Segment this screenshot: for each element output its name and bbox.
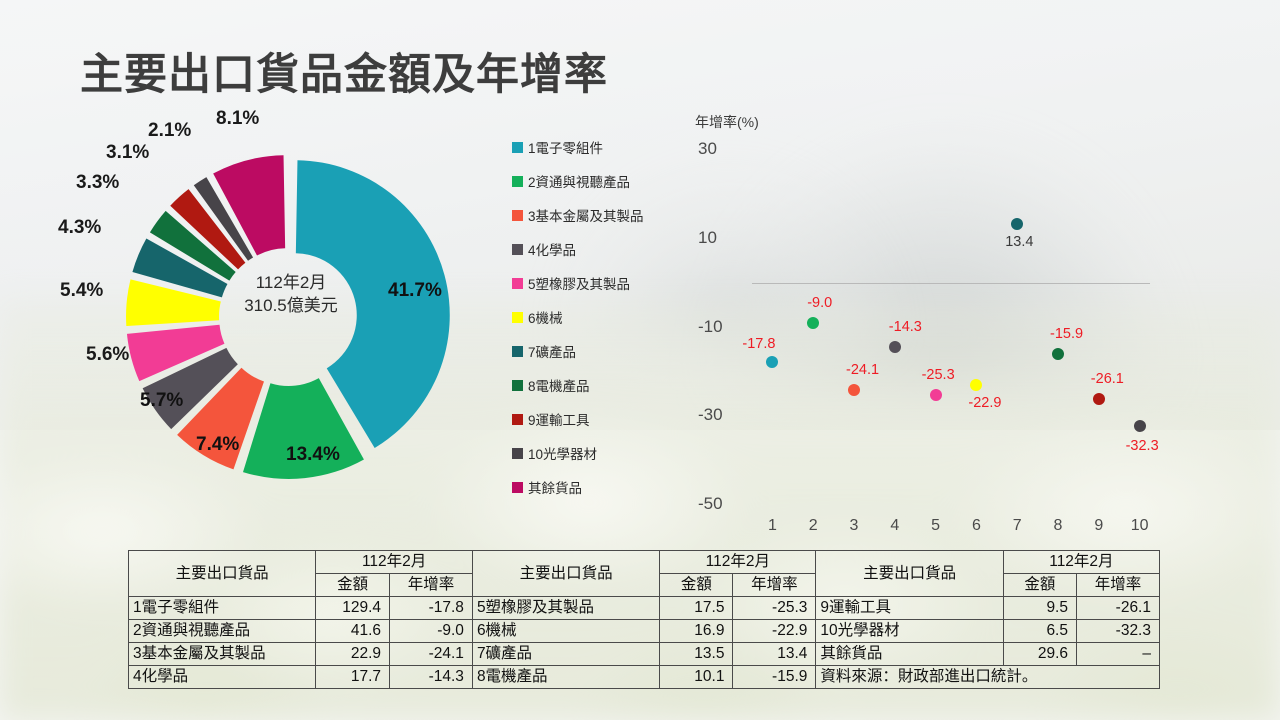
scatter-x-tick: 6 <box>961 517 991 535</box>
table-cell: 17.5 <box>660 597 733 620</box>
donut-chart: 112年2月 310.5億美元 41.7%13.4%7.4%5.7%5.6%5.… <box>78 112 498 512</box>
scatter-point <box>889 341 901 353</box>
donut-slice-label: 2.1% <box>148 120 191 142</box>
scatter-x-tick: 7 <box>1002 517 1032 535</box>
legend-swatch-icon <box>512 142 523 153</box>
scatter-y-tick: 10 <box>698 228 717 248</box>
table-cell: 129.4 <box>316 597 390 620</box>
table-cell: 9運輸工具 <box>816 597 1003 620</box>
scatter-point <box>1011 218 1023 230</box>
table-cell: 2資通與視聽產品 <box>129 620 316 643</box>
scatter-x-tick: 1 <box>757 517 787 535</box>
scatter-point-label: -15.9 <box>1050 326 1083 342</box>
legend-swatch-icon <box>512 346 523 357</box>
legend-item-label: 2資通與視聽產品 <box>528 171 630 191</box>
legend-item-label: 7礦產品 <box>528 341 576 361</box>
table-head: 主要出口貨品 112年2月 主要出口貨品 112年2月 主要出口貨品 112年2… <box>129 551 1160 597</box>
header-rate-c: 年增率 <box>1077 574 1160 597</box>
slide-stage: 主要出口貨品金額及年增率 112年2月 310.5億美元 41.7%13.4%7… <box>0 0 1280 720</box>
table-header-row-1: 主要出口貨品 112年2月 主要出口貨品 112年2月 主要出口貨品 112年2… <box>129 551 1160 574</box>
legend-swatch-icon <box>512 176 523 187</box>
scatter-point-label: -9.0 <box>807 295 832 311</box>
table-cell: 8電機產品 <box>472 666 659 689</box>
header-rate-a: 年增率 <box>390 574 473 597</box>
scatter-zero-line <box>752 283 1150 284</box>
table-row: 1電子零組件129.4-17.85塑橡膠及其製品17.5-25.39運輸工具9.… <box>129 597 1160 620</box>
legend-item-label: 4化學品 <box>528 239 576 259</box>
legend-item[interactable]: 7礦產品 <box>512 334 702 368</box>
scatter-y-tick: -50 <box>698 494 723 514</box>
table-cell: -15.9 <box>733 666 816 689</box>
table-cell: 16.9 <box>660 620 733 643</box>
scatter-point <box>766 356 778 368</box>
scatter-point-label: -32.3 <box>1126 438 1159 454</box>
donut-slice-label: 5.7% <box>140 390 183 412</box>
scatter-point-label: -25.3 <box>922 367 955 383</box>
page-title: 主要出口貨品金額及年增率 <box>80 40 608 102</box>
donut-center-period: 112年2月 <box>206 272 376 295</box>
legend-item[interactable]: 10光學器材 <box>512 436 702 470</box>
donut-slice-label: 5.4% <box>60 280 103 302</box>
scatter-x-tick: 4 <box>880 517 910 535</box>
table-cell: 6機械 <box>472 620 659 643</box>
legend-swatch-icon <box>512 278 523 289</box>
header-product-c: 主要出口貨品 <box>816 551 1003 597</box>
table-cell: -26.1 <box>1077 597 1160 620</box>
legend-swatch-icon <box>512 380 523 391</box>
header-period-b: 112年2月 <box>660 551 816 574</box>
legend-item-label: 1電子零組件 <box>528 137 603 157</box>
legend-item[interactable]: 1電子零組件 <box>512 130 702 164</box>
header-product-b: 主要出口貨品 <box>472 551 659 597</box>
table-cell: 5塑橡膠及其製品 <box>472 597 659 620</box>
scatter-point <box>1093 393 1105 405</box>
table-cell: 17.7 <box>316 666 390 689</box>
scatter-point <box>848 384 860 396</box>
table-row: 2資通與視聽產品41.6-9.06機械16.9-22.910光學器材6.5-32… <box>129 620 1160 643</box>
header-rate-b: 年增率 <box>733 574 816 597</box>
scatter-x-tick: 9 <box>1084 517 1114 535</box>
table-source-note: 資料來源：財政部進出口統計。 <box>816 666 1160 689</box>
donut-slice-label: 13.4% <box>286 444 340 466</box>
donut-slice-label: 5.6% <box>86 344 129 366</box>
legend-item[interactable]: 6機械 <box>512 300 702 334</box>
donut-slice-label: 4.3% <box>58 217 101 239</box>
scatter-point-label: -22.9 <box>968 395 1001 411</box>
legend-swatch-icon <box>512 414 523 425</box>
legend-item-label: 5塑橡膠及其製品 <box>528 273 630 293</box>
scatter-y-tick: -30 <box>698 405 723 425</box>
legend-swatch-icon <box>512 210 523 221</box>
legend-item[interactable]: 9運輸工具 <box>512 402 702 436</box>
table-cell: 1電子零組件 <box>129 597 316 620</box>
table-cell: 22.9 <box>316 643 390 666</box>
scatter-point-label: -14.3 <box>889 319 922 335</box>
legend-item[interactable]: 8電機產品 <box>512 368 702 402</box>
table-cell: -25.3 <box>733 597 816 620</box>
legend-item-label: 10光學器材 <box>528 443 597 463</box>
donut-slice-label: 3.1% <box>106 142 149 164</box>
scatter-x-tick: 10 <box>1125 517 1155 535</box>
legend-swatch-icon <box>512 448 523 459</box>
legend-item[interactable]: 5塑橡膠及其製品 <box>512 266 702 300</box>
table-cell: – <box>1077 643 1160 666</box>
table-cell: 13.5 <box>660 643 733 666</box>
table-cell: -17.8 <box>390 597 473 620</box>
header-period-a: 112年2月 <box>316 551 473 574</box>
table-row: 4化學品17.7-14.38電機產品10.1-15.9資料來源：財政部進出口統計… <box>129 666 1160 689</box>
donut-center-label: 112年2月 310.5億美元 <box>206 272 376 318</box>
legend-item-label: 3基本金屬及其製品 <box>528 205 644 225</box>
table-cell: 41.6 <box>316 620 390 643</box>
donut-slice-label: 3.3% <box>76 172 119 194</box>
table-cell: 29.6 <box>1003 643 1076 666</box>
legend-swatch-icon <box>512 482 523 493</box>
scatter-x-tick: 5 <box>921 517 951 535</box>
table-cell: 7礦產品 <box>472 643 659 666</box>
scatter-point-label: -17.8 <box>742 336 775 352</box>
legend-item-label: 8電機產品 <box>528 375 590 395</box>
table-cell: 4化學品 <box>129 666 316 689</box>
table-cell: -24.1 <box>390 643 473 666</box>
legend-item-label: 其餘貨品 <box>528 477 582 497</box>
scatter-x-tick: 2 <box>798 517 828 535</box>
table-cell: 13.4 <box>733 643 816 666</box>
scatter-point <box>970 379 982 391</box>
donut-slice-label: 8.1% <box>216 108 259 130</box>
scatter-point-label: -26.1 <box>1091 371 1124 387</box>
scatter-axis-title: 年增率(%) <box>695 112 759 132</box>
table-cell: 9.5 <box>1003 597 1076 620</box>
table-row: 3基本金屬及其製品22.9-24.17礦產品13.513.4其餘貨品29.6– <box>129 643 1160 666</box>
scatter-point-label: -24.1 <box>846 362 879 378</box>
scatter-point <box>1134 420 1146 432</box>
legend-item-label: 6機械 <box>528 307 563 327</box>
legend-item[interactable]: 3基本金屬及其製品 <box>512 198 702 232</box>
table-cell: -9.0 <box>390 620 473 643</box>
chart-legend: 1電子零組件2資通與視聽產品3基本金屬及其製品4化學品5塑橡膠及其製品6機械7礦… <box>512 130 702 504</box>
table-cell: 10.1 <box>660 666 733 689</box>
legend-swatch-icon <box>512 312 523 323</box>
scatter-point-label: 13.4 <box>1005 234 1033 250</box>
legend-item[interactable]: 2資通與視聽產品 <box>512 164 702 198</box>
legend-item[interactable]: 其餘貨品 <box>512 470 702 504</box>
legend-swatch-icon <box>512 244 523 255</box>
table-cell: 10光學器材 <box>816 620 1003 643</box>
table-cell: 6.5 <box>1003 620 1076 643</box>
header-amount-c: 金額 <box>1003 574 1076 597</box>
table-cell: -32.3 <box>1077 620 1160 643</box>
table-cell: 3基本金屬及其製品 <box>129 643 316 666</box>
scatter-point <box>1052 348 1064 360</box>
scatter-x-tick: 8 <box>1043 517 1073 535</box>
table-cell: 其餘貨品 <box>816 643 1003 666</box>
scatter-chart: 年增率(%) 3010-10-30-50 12345678910 -17.8-9… <box>690 110 1170 535</box>
table-body: 1電子零組件129.4-17.85塑橡膠及其製品17.5-25.39運輸工具9.… <box>129 597 1160 689</box>
table-cell: -14.3 <box>390 666 473 689</box>
export-data-table: 主要出口貨品 112年2月 主要出口貨品 112年2月 主要出口貨品 112年2… <box>128 550 1160 689</box>
header-amount-a: 金額 <box>316 574 390 597</box>
header-period-c: 112年2月 <box>1003 551 1159 574</box>
scatter-x-tick: 3 <box>839 517 869 535</box>
header-product-a: 主要出口貨品 <box>129 551 316 597</box>
header-amount-b: 金額 <box>660 574 733 597</box>
donut-slice-label: 7.4% <box>196 434 239 456</box>
table-cell: -22.9 <box>733 620 816 643</box>
donut-center-amount: 310.5億美元 <box>206 295 376 318</box>
scatter-y-tick: -10 <box>698 317 723 337</box>
scatter-y-tick: 30 <box>698 139 717 159</box>
legend-item[interactable]: 4化學品 <box>512 232 702 266</box>
legend-item-label: 9運輸工具 <box>528 409 590 429</box>
donut-slice-label: 41.7% <box>388 280 442 302</box>
scatter-point <box>807 317 819 329</box>
scatter-point <box>930 389 942 401</box>
